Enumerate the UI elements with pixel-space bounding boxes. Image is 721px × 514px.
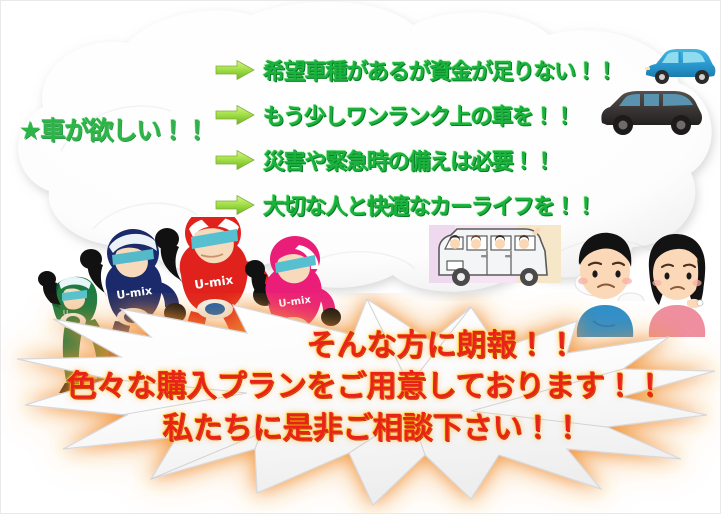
bullet-text: 災害や緊急時の備えは必要！！ [263,144,554,176]
blue-hatchback-car-icon [642,43,718,89]
burst-line: 私たちに是非ご相談下さい！！ [1,408,721,449]
list-item: 災害や緊急時の備えは必要！！ [215,137,685,182]
burst-line: 色々な購入プランをご用意しております！！ [1,366,721,407]
right-arrow-icon [215,194,255,216]
right-arrow-icon [215,149,255,171]
dark-suv-car-icon [597,87,705,139]
promo-banner: ★車が欲しい！！ 希望車種があるが資金が足りない！！ [0,0,721,514]
bullet-text: もう少しワンランク上の車を！！ [263,99,574,131]
list-item: 希望車種があるが資金が足りない！！ [215,47,685,92]
bullet-text: 希望車種があるが資金が足りない！！ [263,54,617,86]
bullet-text: 大切な人と快適なカーライフを！！ [263,189,596,221]
cloud-headline-text: ★車が欲しい！！ [19,116,208,145]
burst-text-block: そんな方に朗報！！ 色々な購入プランをご用意しております！！ 私たちに是非ご相談… [1,325,721,449]
right-arrow-icon [215,104,255,126]
right-arrow-icon [215,59,255,81]
cloud-headline: ★車が欲しい！！ [19,111,208,147]
family-minivan-illustration [429,223,561,295]
burst-line: そんな方に朗報！！ [1,325,721,366]
